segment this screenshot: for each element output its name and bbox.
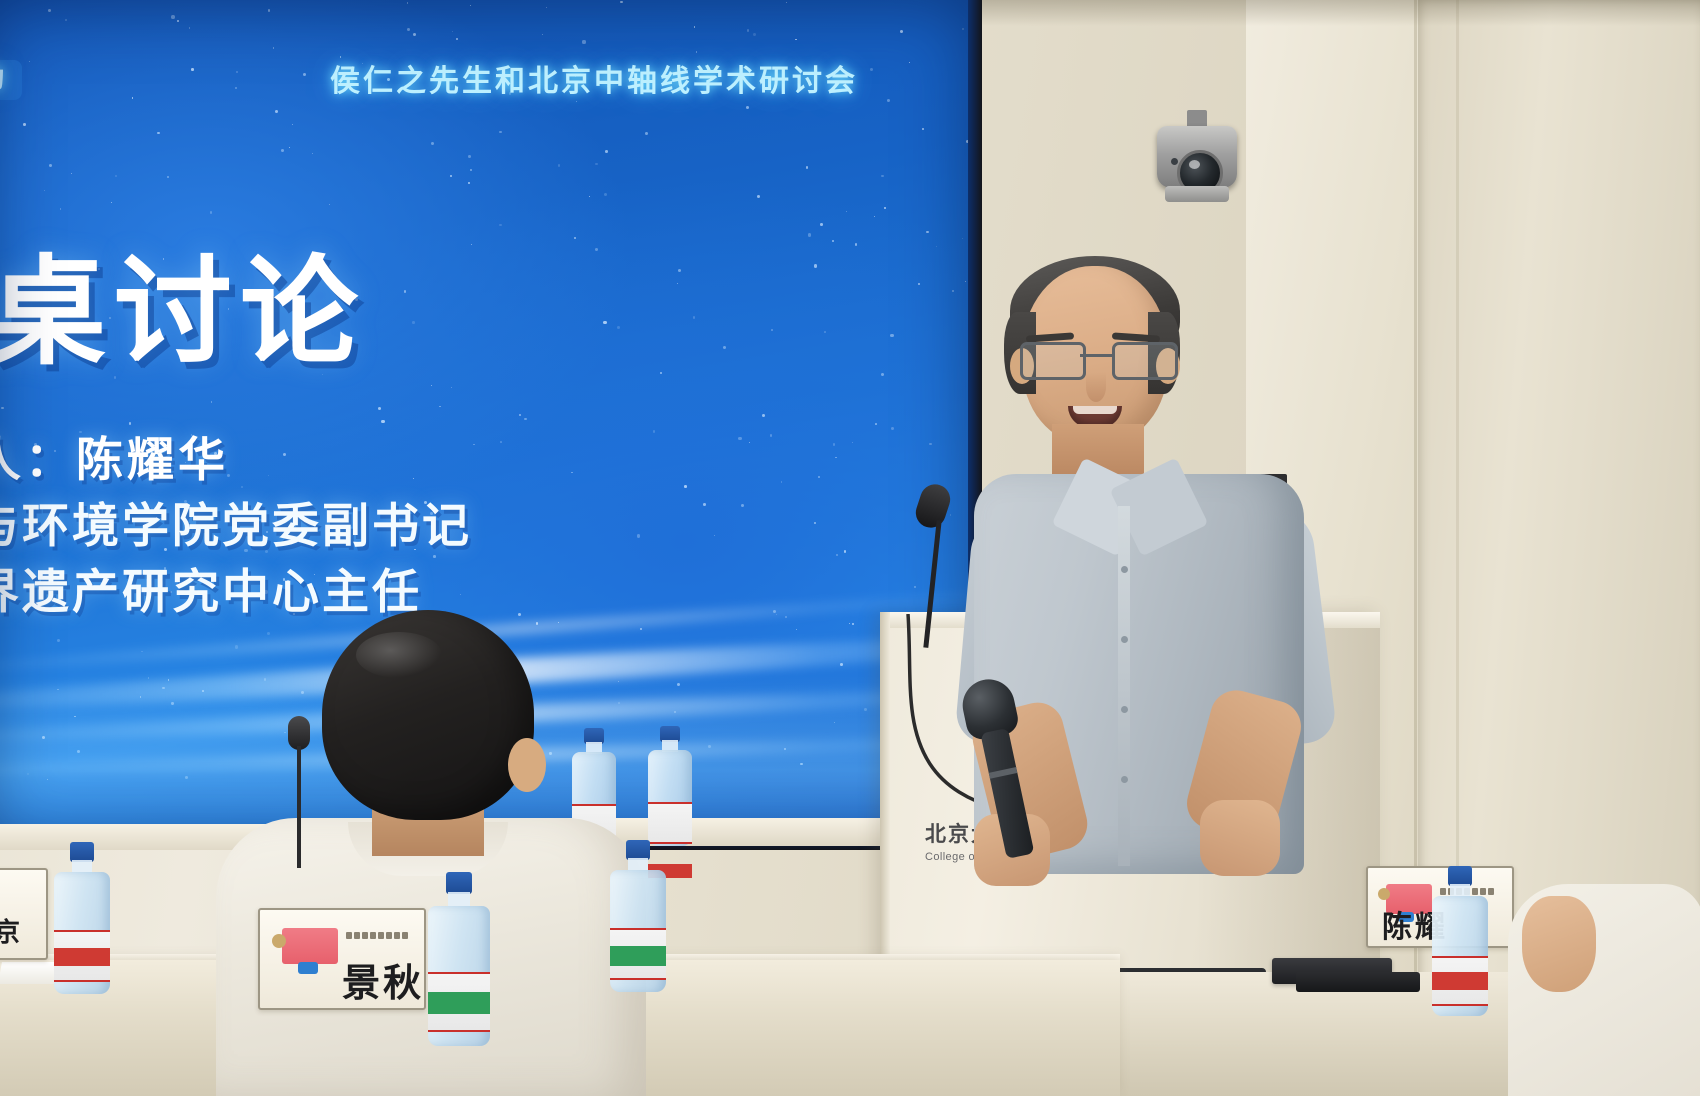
water-bottle — [54, 842, 110, 994]
seated-attendee — [180, 610, 670, 1096]
bottle-cap — [70, 842, 94, 862]
ceiling-shadow — [980, 0, 1700, 26]
nameplate-center: 景秋 — [258, 908, 426, 1010]
seated-attendee-ear — [508, 738, 546, 792]
gooseneck-mic-head — [912, 480, 954, 531]
glasses-lens-left — [1020, 342, 1086, 380]
bottle-body — [54, 872, 110, 994]
bottle-cap — [1448, 866, 1472, 886]
gooseneck-mic-rod — [923, 520, 941, 648]
slide-host-name: 主持人：陈耀华 — [0, 428, 472, 494]
speaker-hand-right — [1200, 800, 1280, 876]
camera-body — [1157, 126, 1237, 188]
nameplate-logo-icon — [272, 926, 338, 974]
camera-base — [1165, 186, 1229, 202]
speaker-shirt-placket — [1118, 506, 1130, 866]
right-attendee-hand — [1522, 896, 1596, 992]
bottle-cap — [626, 840, 650, 860]
nameplate-name-center: 景秋 — [342, 952, 424, 1007]
stand-mic-head — [288, 716, 310, 750]
water-bottle — [1432, 866, 1488, 1016]
speaker-torso — [960, 456, 1330, 1016]
nameplate-small-text — [346, 926, 422, 934]
seated-attendee-hair-highlight — [356, 632, 442, 678]
nameplate-name-far-left: 京 — [0, 912, 23, 949]
bottle-label — [1432, 956, 1488, 1006]
slide-header-pill: 活动 — [0, 60, 22, 100]
stand-mic-rod — [297, 746, 301, 868]
ceiling-camera-icon — [1157, 110, 1237, 210]
camera-ir-sensor — [1171, 158, 1178, 165]
nameplate-far-left: 京 — [0, 868, 48, 960]
slide-main-title: 圆桌讨论 — [0, 216, 366, 387]
slide-header-title: 侯仁之先生和北京中轴线学术研讨会 — [330, 56, 930, 100]
screenshot-root: 活动 侯仁之先生和北京中轴线学术研讨会 圆桌讨论 主持人：陈耀华 城市与环境学院… — [0, 0, 1700, 1096]
slide-host-title-1: 城市与环境学院党委副书记 — [0, 494, 472, 560]
slide-host-block: 主持人：陈耀华 城市与环境学院党委副书记 学世界遗产研究中心主任 — [0, 428, 472, 626]
bottle-cap — [446, 872, 472, 894]
water-bottle — [610, 840, 666, 992]
bottle-label — [54, 930, 110, 982]
glasses-bridge — [1080, 354, 1112, 357]
tablet-device-secondary — [1296, 972, 1420, 992]
glasses-lens-right — [1112, 342, 1178, 380]
bottle-body — [610, 870, 666, 992]
bottle-body — [1432, 896, 1488, 1016]
speaker-nose — [1086, 372, 1106, 402]
stand-microphone-icon — [276, 716, 322, 866]
water-bottle — [428, 872, 490, 1044]
bottle-label — [610, 928, 666, 980]
eyeglasses-icon — [1018, 342, 1174, 376]
bottle-body — [428, 906, 490, 1046]
bottle-label — [428, 972, 490, 1032]
